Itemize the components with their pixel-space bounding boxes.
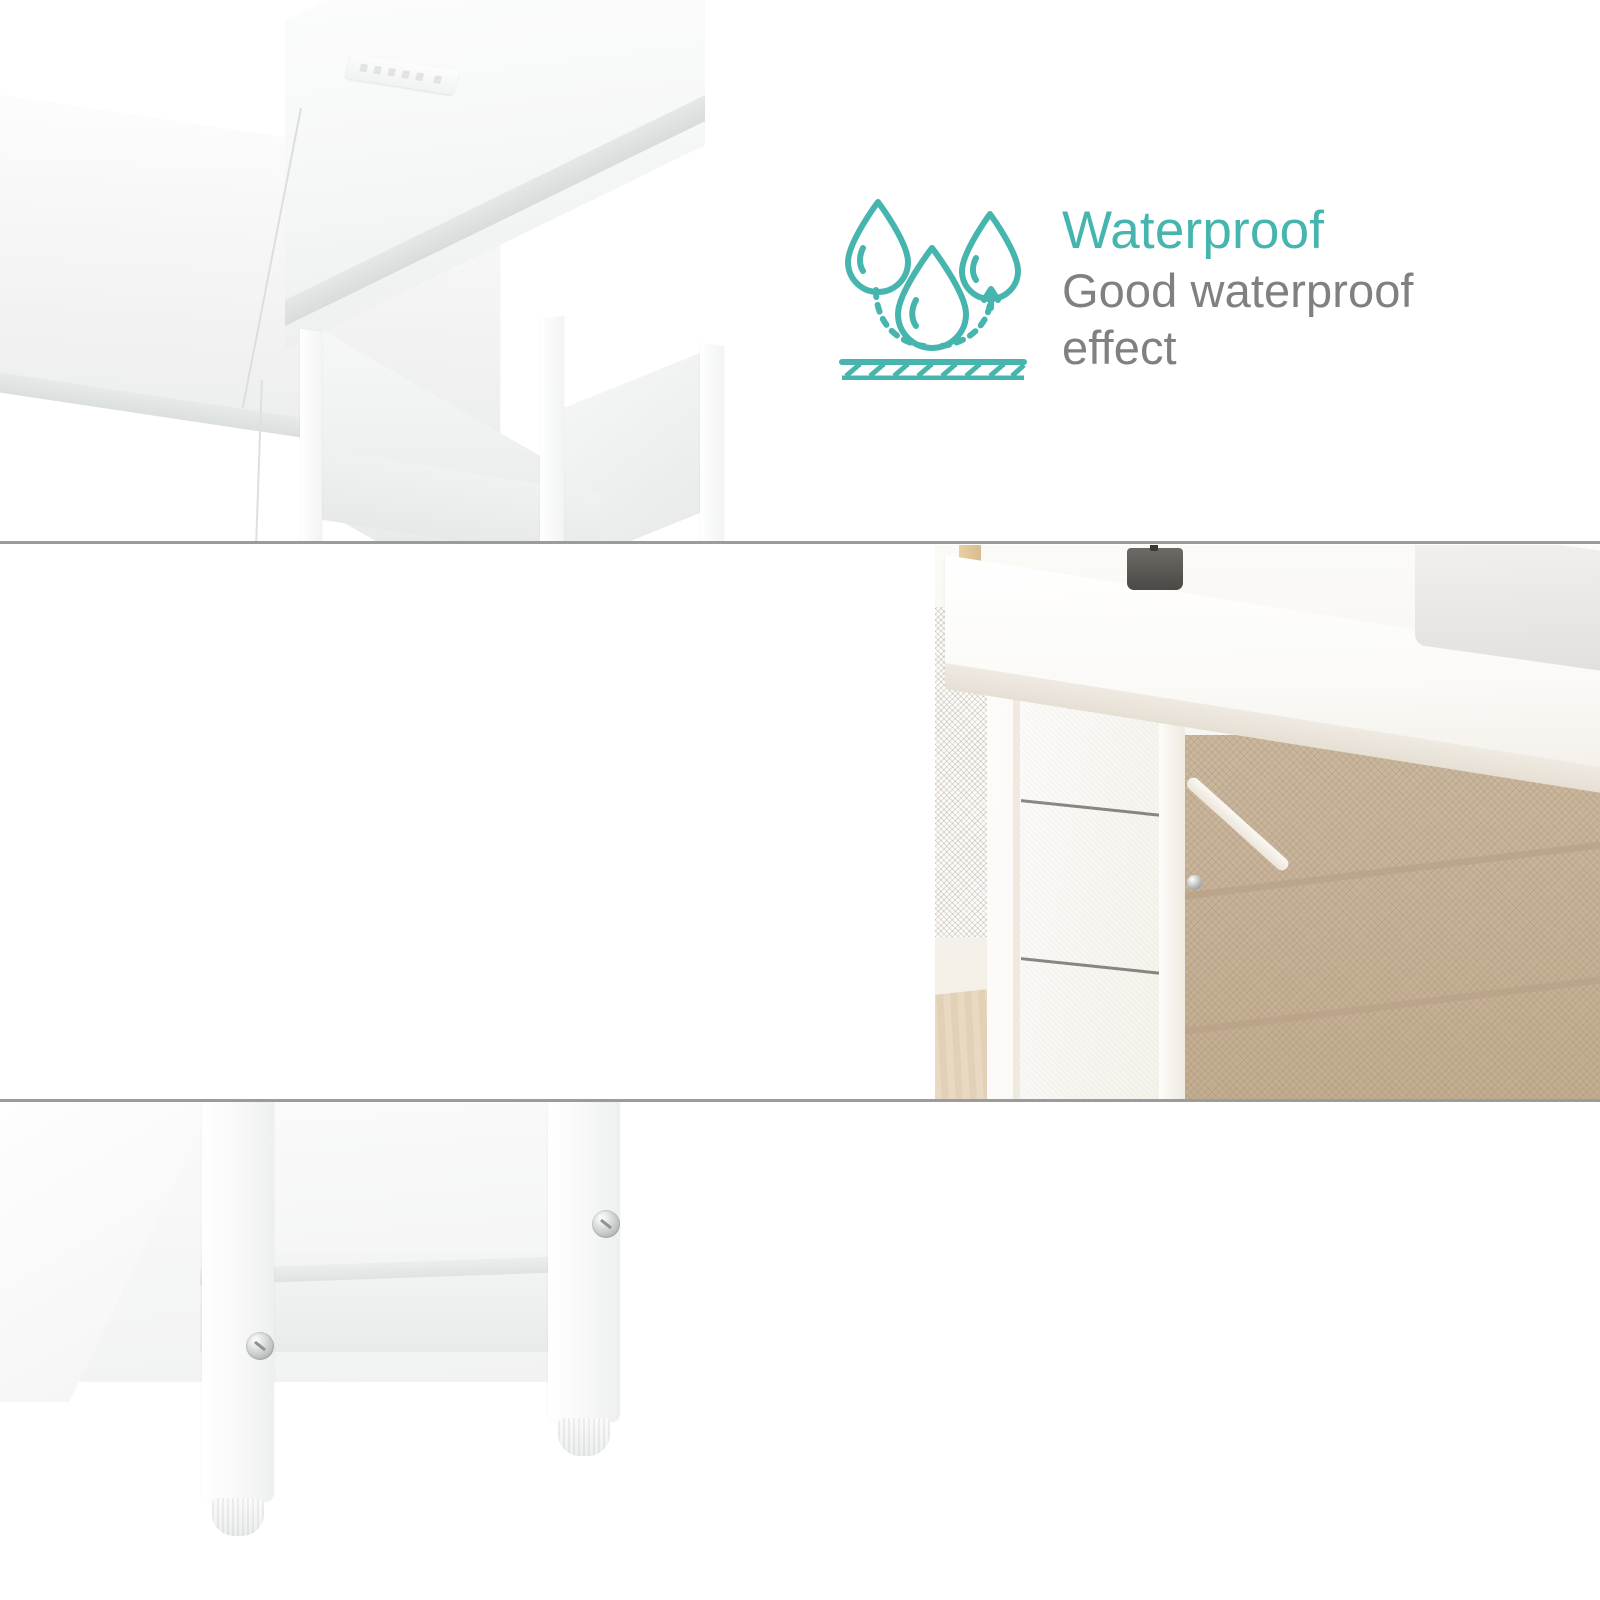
screw-icon xyxy=(592,1210,620,1238)
feature-title-waterproof: Waterproof xyxy=(1062,200,1462,262)
feature-subtitle-waterproof: Good waterproof effect xyxy=(1062,262,1462,376)
feature-panel-legpads: Adjustable Leg Pads Suitable for uneven … xyxy=(0,1102,1600,1600)
screw-icon xyxy=(246,1332,274,1360)
adjustable-foot-pad xyxy=(558,1418,610,1456)
product-photo-desk-legs xyxy=(0,1102,700,1600)
water-droplets-icon xyxy=(832,190,1032,380)
panel-divider-top xyxy=(0,541,1600,544)
product-photo-desk-corner xyxy=(0,0,800,543)
feature-text-waterproof: Waterproof Good waterproof effect xyxy=(1062,200,1462,376)
screw-icon xyxy=(1187,875,1202,890)
adjustable-foot-pad xyxy=(212,1498,264,1536)
feature-panel-waterproof: Waterproof Good waterproof effect xyxy=(0,0,1600,543)
product-photo-desk-drawers xyxy=(935,545,1600,1100)
candle-holder xyxy=(1127,548,1183,590)
product-feature-infographic: Waterproof Good waterproof effect Enhanc… xyxy=(0,0,1600,1600)
feature-panel-structural: Enhanced Structural Heavy Duty Metal Des… xyxy=(0,545,1600,1100)
